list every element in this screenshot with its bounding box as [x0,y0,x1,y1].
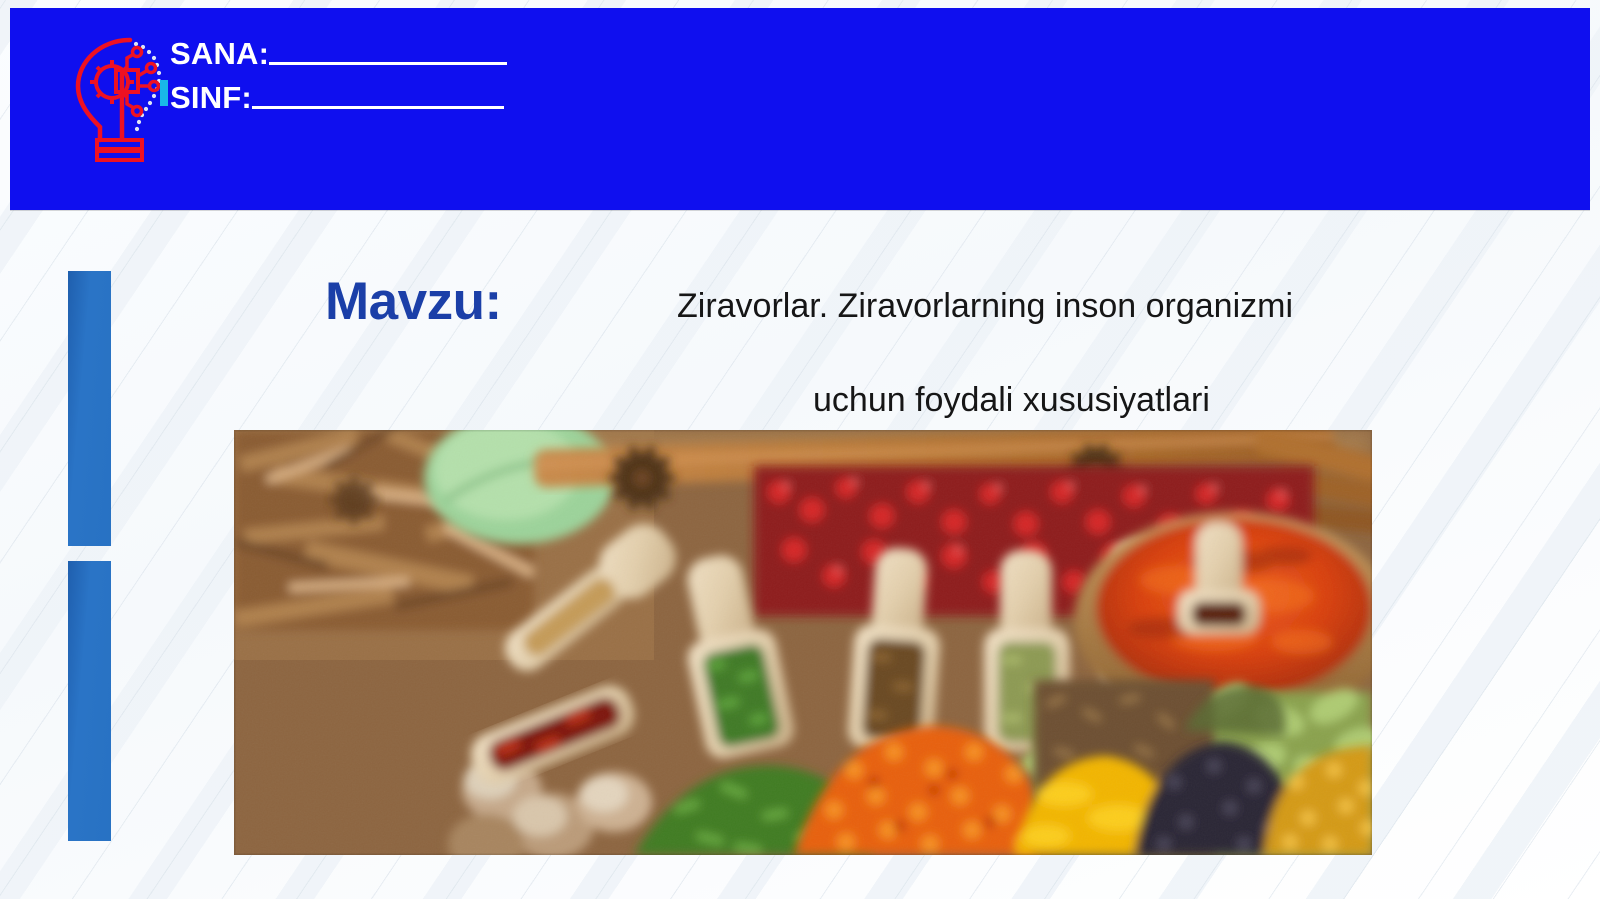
header-label-sinf: SINF: [170,82,252,113]
header-field-sinf: SINF: [170,82,504,113]
header-label-sana: SANA: [170,38,269,69]
title-text-line-1: Ziravorlar. Ziravorlarning inson organiz… [677,286,1293,327]
header-band: SANA: SINF: [10,8,1590,210]
cyan-accent-tick [160,80,168,106]
accent-bar-top [68,271,111,546]
title-text-line-2: uchun foydali xususiyatlari [813,380,1210,421]
header-field-sana: SANA: [170,38,507,69]
header-blank-line-sinf[interactable] [252,106,504,109]
slide-canvas: SANA: SINF: Mavzu: Ziravorlar. Ziravorla… [0,0,1600,899]
assorted-spices-photo [234,430,1372,855]
header-blank-line-sana[interactable] [269,62,507,65]
title-prefix-label: Mavzu: [325,274,502,330]
accent-bar-bottom [68,561,111,841]
